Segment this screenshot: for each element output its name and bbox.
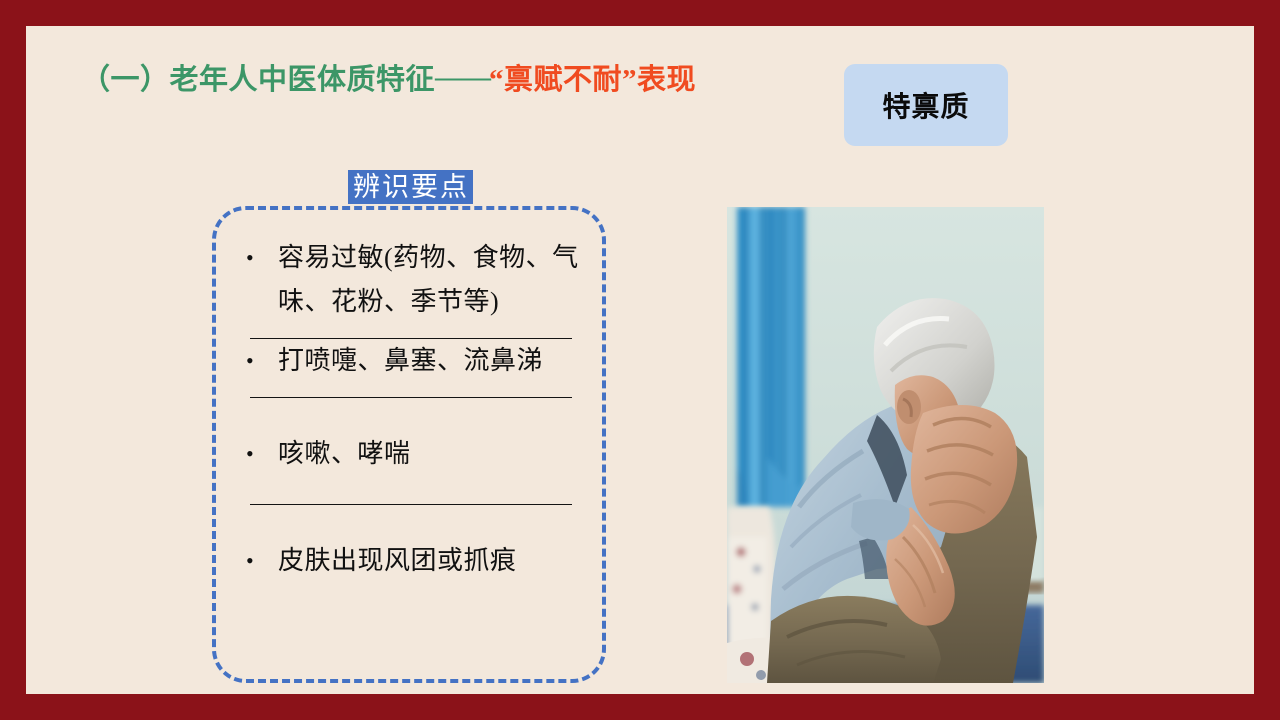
identification-points-list: • 容易过敏(药物、食物、气味、花粉、季节等) • 打喷嚏、鼻塞、流鼻涕 • 咳… xyxy=(212,206,606,683)
list-item-text: 咳嗽、哮喘 xyxy=(278,432,588,476)
elderly-man-photo xyxy=(727,207,1044,683)
bullet-icon: • xyxy=(246,432,278,476)
spacer xyxy=(232,383,588,397)
spacer xyxy=(232,505,588,539)
title-dash: —— xyxy=(435,61,489,94)
constitution-type-badge: 特禀质 xyxy=(844,64,1008,146)
list-item: • 打喷嚏、鼻塞、流鼻涕 xyxy=(232,339,588,383)
list-item-text: 打喷嚏、鼻塞、流鼻涕 xyxy=(278,339,588,383)
slide-canvas: （一）老年人中医体质特征 —— “禀赋不耐”表现 特禀质 • 容易过敏(药物、食… xyxy=(26,26,1254,694)
list-item-text: 皮肤出现风团或抓痕 xyxy=(278,539,588,583)
spacer xyxy=(232,476,588,504)
title-prefix: （一）老年人中医体质特征 xyxy=(81,56,435,98)
section-label: 辨识要点 xyxy=(353,174,469,201)
list-item-text: 容易过敏(药物、食物、气味、花粉、季节等) xyxy=(278,236,588,324)
spacer xyxy=(232,398,588,432)
slide-root: （一）老年人中医体质特征 —— “禀赋不耐”表现 特禀质 • 容易过敏(药物、食… xyxy=(0,0,1280,720)
list-item: • 容易过敏(药物、食物、气味、花粉、季节等) xyxy=(232,236,588,324)
title-highlight: “禀赋不耐”表现 xyxy=(489,56,696,98)
section-label-chip: 辨识要点 xyxy=(348,170,473,204)
badge-label: 特禀质 xyxy=(882,85,969,125)
photo-illustration xyxy=(727,207,1044,683)
list-item: • 咳嗽、哮喘 xyxy=(232,432,588,476)
bullet-icon: • xyxy=(246,539,278,583)
bullet-icon: • xyxy=(246,236,278,280)
list-item: • 皮肤出现风团或抓痕 xyxy=(232,539,588,583)
spacer xyxy=(232,324,588,338)
bullet-icon: • xyxy=(246,339,278,383)
